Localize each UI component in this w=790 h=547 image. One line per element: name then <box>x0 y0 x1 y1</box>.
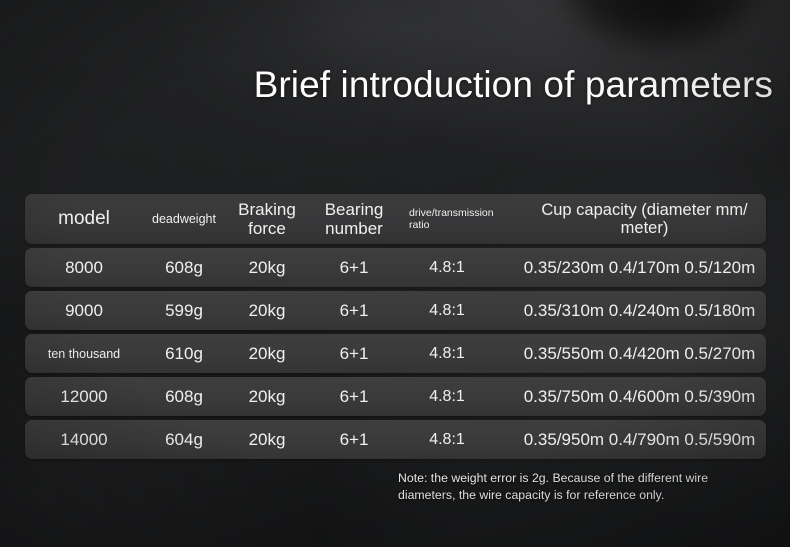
cell-drive-ratio: 4.8:1 <box>399 388 495 406</box>
cell-bearing-number: 6+1 <box>309 301 399 320</box>
cell-bearing-number: 6+1 <box>309 387 399 406</box>
column-header-model: model <box>25 208 143 229</box>
table-row[interactable]: ten thousand 610g 20kg 6+1 4.8:1 0.35/55… <box>25 334 766 373</box>
table-row[interactable]: 8000 608g 20kg 6+1 4.8:1 0.35/230m 0.4/1… <box>25 248 766 287</box>
cell-deadweight: 604g <box>143 430 225 449</box>
column-header-bearing-number: Bearing number <box>309 200 399 238</box>
cell-braking-force: 20kg <box>225 430 309 449</box>
cell-model: 8000 <box>25 258 143 277</box>
cell-bearing-number: 6+1 <box>309 430 399 449</box>
cell-cup-capacity: 0.35/950m 0.4/790m 0.5/590m <box>495 430 766 449</box>
column-header-deadweight: deadweight <box>143 212 225 226</box>
cell-braking-force: 20kg <box>225 301 309 320</box>
cell-deadweight: 599g <box>143 301 225 320</box>
cell-braking-force: 20kg <box>225 258 309 277</box>
cell-drive-ratio: 4.8:1 <box>399 302 495 320</box>
column-header-braking-force: Braking force <box>225 200 309 238</box>
table-row[interactable]: 9000 599g 20kg 6+1 4.8:1 0.35/310m 0.4/2… <box>25 291 766 330</box>
table-header-row: model deadweight Braking force Bearing n… <box>25 194 766 244</box>
cell-model: ten thousand <box>25 347 143 361</box>
cell-bearing-number: 6+1 <box>309 258 399 277</box>
page-title: Brief introduction of parameters <box>254 66 773 103</box>
column-header-cup-capacity: Cup capacity (diameter mm/ meter) <box>505 201 766 238</box>
cell-bearing-number: 6+1 <box>309 344 399 363</box>
table-row[interactable]: 12000 608g 20kg 6+1 4.8:1 0.35/750m 0.4/… <box>25 377 766 416</box>
cell-drive-ratio: 4.8:1 <box>399 345 495 363</box>
slide-canvas: Brief introduction of parameters model d… <box>0 0 790 547</box>
background-blur-blob <box>556 0 766 46</box>
column-header-drive-ratio: drive/transmission ratio <box>399 207 505 232</box>
cell-cup-capacity: 0.35/750m 0.4/600m 0.5/390m <box>495 387 766 406</box>
parameters-table: model deadweight Braking force Bearing n… <box>25 194 766 463</box>
cell-model: 12000 <box>25 387 143 406</box>
footnote: Note: the weight error is 2g. Because of… <box>398 470 738 505</box>
table-row[interactable]: 14000 604g 20kg 6+1 4.8:1 0.35/950m 0.4/… <box>25 420 766 459</box>
cell-braking-force: 20kg <box>225 344 309 363</box>
cell-model: 9000 <box>25 301 143 320</box>
cell-cup-capacity: 0.35/550m 0.4/420m 0.5/270m <box>495 344 766 363</box>
cell-drive-ratio: 4.8:1 <box>399 259 495 277</box>
cell-cup-capacity: 0.35/310m 0.4/240m 0.5/180m <box>495 301 766 320</box>
cell-cup-capacity: 0.35/230m 0.4/170m 0.5/120m <box>495 258 766 277</box>
cell-deadweight: 608g <box>143 387 225 406</box>
cell-deadweight: 610g <box>143 344 225 363</box>
cell-model: 14000 <box>25 430 143 449</box>
cell-braking-force: 20kg <box>225 387 309 406</box>
cell-deadweight: 608g <box>143 258 225 277</box>
cell-drive-ratio: 4.8:1 <box>399 431 495 449</box>
